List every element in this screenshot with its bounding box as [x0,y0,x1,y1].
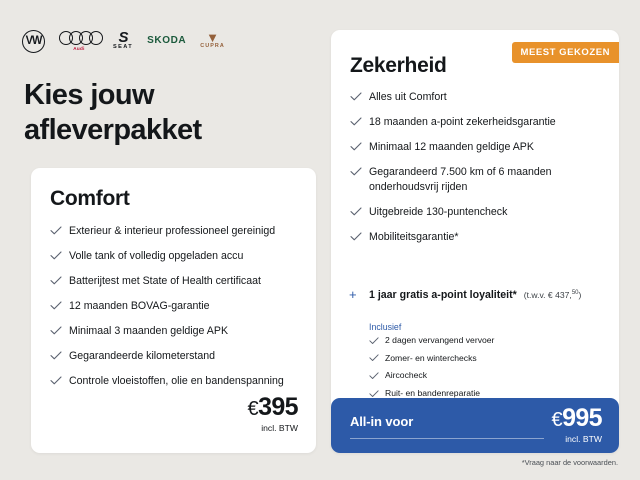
volkswagen-ring-icon: VW [22,30,45,53]
plus-icon: + [349,288,357,301]
check-icon [350,92,361,100]
loyalty-label: 1 jaar gratis a-point loyaliteit* [369,289,517,301]
skoda-wordmark: SKODA [147,36,186,46]
status-badge: MEEST GEKOZEN [512,42,620,63]
loyalty-value-prefix: (t.w.v. € 437, [524,290,572,300]
check-icon [369,354,378,361]
list-item: Minimaal 12 maanden geldige APK [350,140,602,155]
list-item: Gegarandeerd 7.500 km of 6 maanden onder… [350,165,602,195]
zekerheid-package-card: MEEST GEKOZEN Zekerheid Alles uit Comfor… [331,30,619,453]
seat-mark-icon: S [119,31,128,44]
check-icon [350,142,361,150]
allin-price-bar: All-in voor €995 incl. BTW [331,398,619,453]
loyalty-value-suffix: ) [579,290,582,300]
list-item: Controle vloeistoffen, olie en bandenspa… [50,374,300,389]
list-item-label: Zomer- en winterchecks [385,353,477,363]
list-item: Alles uit Comfort [350,90,602,105]
comfort-package-card: Comfort Exterieur & interieur profession… [31,168,316,453]
check-icon [350,232,361,240]
cupra-logo: ▼ CUPRA [200,32,225,49]
cupra-mark-icon: ▼ [206,32,219,43]
zekerheid-title: Zekerheid [350,54,447,78]
comfort-price-value: 395 [258,393,298,421]
check-icon [369,371,378,378]
list-item: 18 maanden a-point zekerheidsgarantie [350,115,602,130]
list-item: Zomer- en winterchecks [369,353,549,364]
check-icon [50,226,61,234]
skoda-logo: SKODA [147,36,186,46]
zekerheid-feature-list: Alles uit Comfort18 maanden a-point zeke… [350,90,602,255]
audi-rings-icon [59,31,99,45]
check-icon [350,167,361,175]
list-item: Volle tank of volledig opgeladen accu [50,249,300,264]
cupra-wordmark: CUPRA [200,44,225,49]
list-item-label: Gegarandeerde kilometerstand [69,350,215,362]
list-item-label: Batterijtest met State of Health certifi… [69,275,261,287]
list-item-label: 2 dagen vervangend vervoer [385,335,494,345]
list-item-label: Volle tank of volledig opgeladen accu [69,250,243,262]
volkswagen-mark: VW [26,35,42,47]
list-item-label: Exterieur & interieur professioneel gere… [69,225,275,237]
audi-wordmark: Audi [73,47,84,52]
comfort-price-block: €395 incl. BTW [248,395,298,433]
inclusief-list: 2 dagen vervangend vervoerZomer- en wint… [369,335,549,406]
list-item-label: Gegarandeerd 7.500 km of 6 maanden onder… [369,166,552,193]
list-item-label: 12 maanden BOVAG-garantie [69,300,210,312]
list-item-label: Mobiliteitsgarantie* [369,231,459,243]
comfort-currency: € [248,398,259,420]
list-item: 2 dagen vervangend vervoer [369,335,549,346]
loyalty-plus-row: + 1 jaar gratis a-point loyaliteit* (t.w… [350,289,619,301]
list-item: Mobiliteitsgarantie* [350,230,602,245]
list-item-label: Alles uit Comfort [369,91,447,103]
seat-wordmark: SEAT [113,45,133,51]
comfort-price: €395 [248,395,298,420]
comfort-feature-list: Exterieur & interieur professioneel gere… [50,224,300,399]
list-item-label: Aircocheck [385,370,427,380]
comfort-title: Comfort [50,187,130,211]
zekerheid-price: €995 [552,406,602,431]
check-icon [50,376,61,384]
list-item-label: Minimaal 12 maanden geldige APK [369,141,534,153]
zekerheid-currency: € [552,409,563,431]
list-item-label: Minimaal 3 maanden geldige APK [69,325,228,337]
check-icon [50,251,61,259]
audi-logo: Audi [59,31,99,52]
inclusief-label: Inclusief [369,322,401,332]
zekerheid-price-note: incl. BTW [565,434,602,444]
check-icon [50,326,61,334]
seat-logo: S SEAT [113,31,133,51]
list-item: Gegarandeerde kilometerstand [50,349,300,364]
check-icon [50,276,61,284]
comfort-price-note: incl. BTW [248,423,298,433]
allin-label: All-in voor [350,414,413,429]
list-item: Aircocheck [369,370,549,381]
check-icon [50,351,61,359]
list-item-label: Controle vloeistoffen, olie en bandenspa… [69,375,284,387]
volkswagen-logo: VW [22,30,45,53]
footnote: *Vraag naar de voorwaarden. [522,458,618,467]
check-icon [350,117,361,125]
allin-divider [350,438,544,439]
loyalty-value-cents: 50 [572,290,579,296]
list-item: 12 maanden BOVAG-garantie [50,299,300,314]
check-icon [369,389,378,396]
list-item: Exterieur & interieur professioneel gere… [50,224,300,239]
brand-logo-strip: VW Audi S SEAT SKODA ▼ CUPRA [22,27,225,55]
list-item: Minimaal 3 maanden geldige APK [50,324,300,339]
list-item-label: Uitgebreide 130-puntencheck [369,206,507,218]
list-item-label: 18 maanden a-point zekerheidsgarantie [369,116,556,128]
loyalty-value: (t.w.v. € 437,50) [524,290,582,300]
check-icon [50,301,61,309]
check-icon [369,336,378,343]
list-item: Uitgebreide 130-puntencheck [350,205,602,220]
zekerheid-price-value: 995 [562,404,602,432]
list-item-label: Ruit- en bandenreparatie [385,388,480,398]
promo-page: VW Audi S SEAT SKODA ▼ CUPRA Kies jouw a… [0,0,640,480]
page-title: Kies jouw afleverpakket [24,78,314,149]
list-item: Batterijtest met State of Health certifi… [50,274,300,289]
check-icon [350,207,361,215]
